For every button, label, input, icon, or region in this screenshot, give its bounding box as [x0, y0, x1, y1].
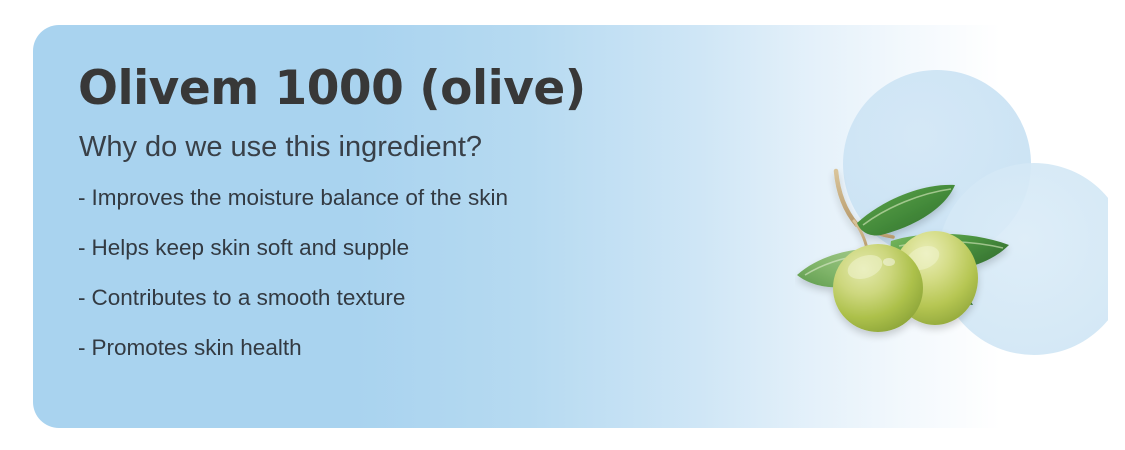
- text-block: Olivem 1000 (olive) Why do we use this i…: [78, 61, 738, 361]
- list-item-label: Contributes to a smooth texture: [92, 285, 406, 310]
- bullet-dash: -: [78, 235, 86, 260]
- bullet-dash: -: [78, 185, 86, 210]
- page-title: Olivem 1000 (olive): [78, 61, 738, 116]
- list-item-label: Improves the moisture balance of the ski…: [92, 185, 508, 210]
- list-item-label: Promotes skin health: [92, 335, 302, 360]
- list-item: -Helps keep skin soft and supple: [78, 234, 738, 261]
- subtitle: Why do we use this ingredient?: [79, 130, 738, 165]
- olive-stem: [836, 171, 857, 225]
- list-item: -Promotes skin health: [78, 334, 738, 361]
- olive-leaf-upper: [857, 185, 955, 236]
- bullet-dash: -: [78, 285, 86, 310]
- ingredient-banner-card: Olivem 1000 (olive) Why do we use this i…: [33, 25, 1108, 428]
- list-item: -Contributes to a smooth texture: [78, 284, 738, 311]
- bullet-dash: -: [78, 335, 86, 360]
- list-item: -Improves the moisture balance of the sk…: [78, 184, 738, 211]
- list-item-label: Helps keep skin soft and supple: [92, 235, 410, 260]
- benefit-list: -Improves the moisture balance of the sk…: [78, 184, 738, 361]
- olive-branch-image: [795, 145, 1085, 360]
- olive-fruit-front: [833, 244, 923, 332]
